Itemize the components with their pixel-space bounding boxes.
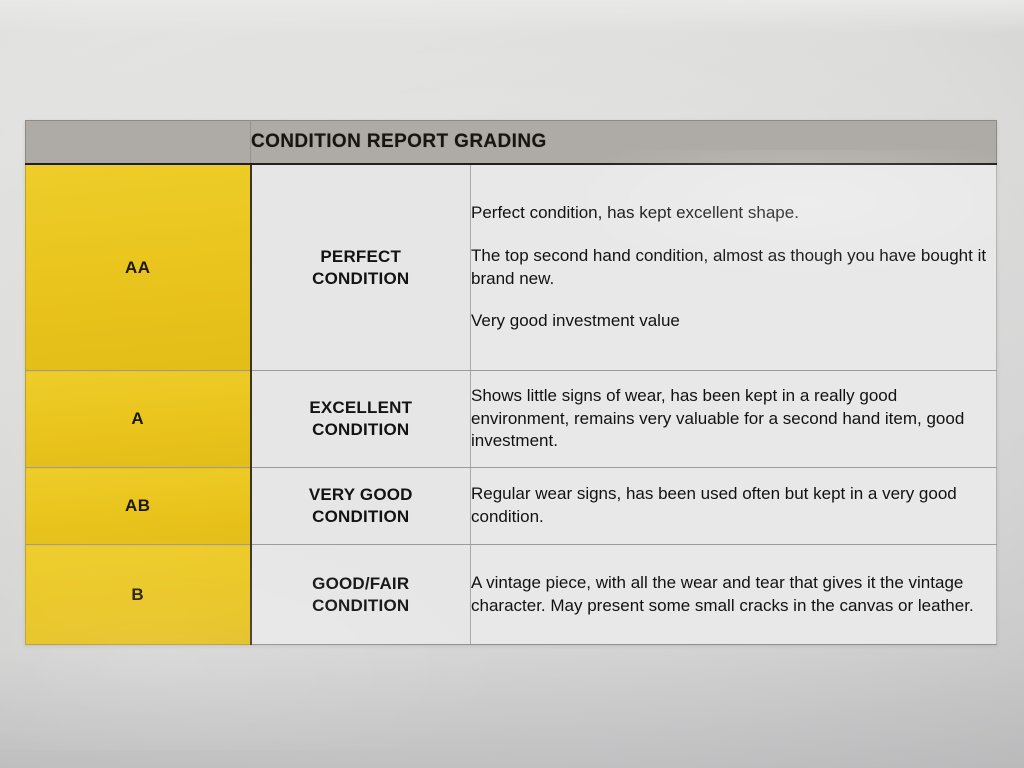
- header-spacer-cell: [26, 121, 251, 165]
- condition-name-cell-aa: PERFECT CONDITION: [251, 164, 471, 371]
- grade-cell-b: B: [26, 545, 251, 645]
- condition-name-line1: GOOD/FAIR: [252, 573, 471, 595]
- grade-cell-aa: AA: [26, 164, 251, 371]
- condition-report-grading-table: CONDITION REPORT GRADING AA PERFECT COND…: [25, 120, 997, 645]
- grade-cell-a: A: [26, 371, 251, 468]
- condition-name-line2: CONDITION: [252, 419, 471, 441]
- condition-name-cell-b: GOOD/FAIR CONDITION: [251, 545, 471, 645]
- description-cell-ab: Regular wear signs, has been used often …: [471, 468, 997, 545]
- table-header-row: CONDITION REPORT GRADING: [26, 121, 997, 165]
- description-paragraph: Regular wear signs, has been used often …: [471, 483, 996, 529]
- condition-name-line1: VERY GOOD: [252, 484, 471, 506]
- description-paragraph: Very good investment value: [471, 310, 996, 333]
- description-paragraph: Perfect condition, has kept excellent sh…: [471, 202, 996, 225]
- grade-label: B: [131, 585, 144, 604]
- table-row: AB VERY GOOD CONDITION Regular wear sign…: [26, 468, 997, 545]
- sheet-top-shading: [0, 0, 1024, 34]
- description-cell-b: A vintage piece, with all the wear and t…: [471, 545, 997, 645]
- grade-label: AB: [125, 496, 151, 515]
- condition-name-line2: CONDITION: [252, 268, 471, 290]
- table-row: AA PERFECT CONDITION Perfect condition, …: [26, 164, 997, 371]
- condition-name-line2: CONDITION: [252, 506, 471, 528]
- condition-name-line2: CONDITION: [252, 595, 471, 617]
- description-cell-aa: Perfect condition, has kept excellent sh…: [471, 164, 997, 371]
- description-paragraph: The top second hand condition, almost as…: [471, 245, 996, 291]
- grade-cell-ab: AB: [26, 468, 251, 545]
- table-row: A EXCELLENT CONDITION Shows little signs…: [26, 371, 997, 468]
- sheet-bottom-shading: [0, 648, 1024, 768]
- table-row: B GOOD/FAIR CONDITION A vintage piece, w…: [26, 545, 997, 645]
- page-title: CONDITION REPORT GRADING: [251, 131, 547, 152]
- grade-label: AA: [125, 258, 151, 277]
- description-paragraph: Shows little signs of wear, has been kep…: [471, 385, 996, 453]
- condition-name-cell-ab: VERY GOOD CONDITION: [251, 468, 471, 545]
- grade-label: A: [131, 409, 144, 428]
- table-title-cell: CONDITION REPORT GRADING: [251, 121, 997, 165]
- condition-name-line1: EXCELLENT: [252, 397, 471, 419]
- description-cell-a: Shows little signs of wear, has been kep…: [471, 371, 997, 468]
- condition-name-line1: PERFECT: [252, 246, 471, 268]
- condition-name-cell-a: EXCELLENT CONDITION: [251, 371, 471, 468]
- description-paragraph: A vintage piece, with all the wear and t…: [471, 572, 996, 618]
